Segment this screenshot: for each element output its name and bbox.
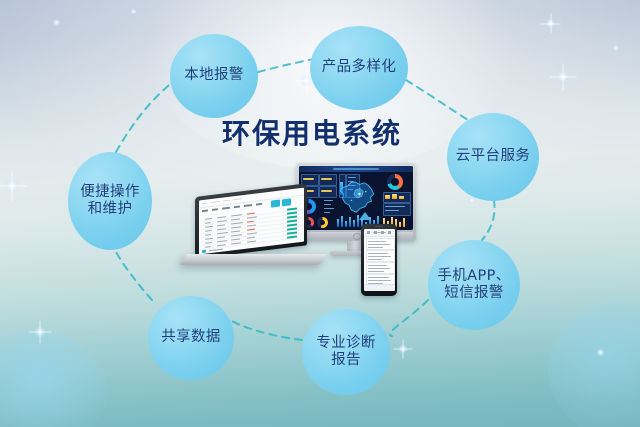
- bubble-shared-data-label: 共享数据: [157, 329, 225, 346]
- bubble-mobile-app-sms-label-line1: 手机APP、: [433, 268, 514, 285]
- dashboard-bar: [392, 194, 397, 199]
- bubble-cloud-platform[interactable]: 云平台服务: [447, 113, 539, 201]
- bubble-local-alarm[interactable]: 本地报警: [170, 34, 258, 118]
- pagination-control: [202, 250, 206, 253]
- bubble-mobile-app-sms[interactable]: 手机APP、 短信报警: [428, 240, 520, 330]
- phone-screen: [364, 229, 395, 291]
- donut-hole: [320, 220, 325, 225]
- phone-tab-icon: [367, 231, 370, 234]
- laptop-screen: [199, 188, 304, 255]
- pagination-label: [209, 249, 223, 252]
- bubble-diagnostic-report-label-line1: 专业诊断: [312, 335, 380, 352]
- phone-body: [361, 224, 397, 296]
- column-header: [256, 203, 262, 205]
- bubble-easy-ops-label-line1: 便捷操作: [76, 184, 144, 201]
- phone-item-line: [368, 277, 389, 278]
- dashboard-bar: [353, 220, 355, 227]
- dashboard-bar: [399, 196, 404, 199]
- dashboard-header: [299, 166, 413, 172]
- phone-speaker-icon: [375, 226, 383, 227]
- smartphone: [361, 224, 397, 296]
- dashboard-line: [324, 204, 331, 205]
- phone-item-line: [368, 241, 386, 242]
- china-map-graphic: [337, 178, 377, 216]
- phone-item-line: [368, 268, 390, 269]
- dashboard-line: [324, 212, 330, 213]
- phone-item-line: [368, 253, 388, 254]
- bubble-easy-ops-label-line2: 和维护: [84, 201, 137, 218]
- dashboard-line: [385, 206, 405, 207]
- donut-hole: [391, 178, 399, 186]
- phone-item-line: [368, 280, 391, 281]
- column-header: [212, 208, 218, 210]
- dashboard-bar: [349, 217, 351, 227]
- phone-item-line: [368, 265, 387, 266]
- bubble-local-alarm-label: 本地报警: [180, 67, 248, 84]
- column-header: [234, 206, 240, 208]
- dashboard-panel: [319, 174, 337, 186]
- dashboard-panel: [319, 186, 337, 198]
- poster-canvas: 环保用电系统 本地报警 产品多样化 云平台服务 手机APP、 短信报警 专业诊断…: [0, 0, 640, 427]
- phone-tab-icon: [381, 231, 384, 234]
- phone-item-line: [368, 256, 391, 257]
- phone-item-line: [368, 244, 390, 245]
- table-action-button: [282, 198, 291, 206]
- laptop-base: [179, 254, 326, 265]
- phone-item-line: [368, 247, 383, 248]
- phone-item-line: [368, 259, 382, 260]
- dashboard-metric: [303, 178, 314, 180]
- bubble-mobile-app-sms-label-line2: 短信报警: [440, 285, 508, 302]
- dashboard-bar: [357, 215, 359, 227]
- laptop: [195, 197, 320, 282]
- phone-item-line: [368, 271, 384, 272]
- laptop-lid: [195, 183, 307, 259]
- bubble-cloud-platform-label: 云平台服务: [452, 148, 535, 165]
- column-header: [244, 204, 252, 206]
- bubble-diagnostic-report[interactable]: 专业诊断 报告: [302, 309, 390, 395]
- bubble-diagnostic-report-label-line2: 报告: [327, 352, 365, 369]
- bubble-product-diversity-label: 产品多样化: [318, 59, 401, 76]
- dashboard-bar: [341, 216, 343, 227]
- bubble-product-diversity[interactable]: 产品多样化: [310, 26, 408, 110]
- dashboard-line: [324, 200, 333, 201]
- bubble-shared-data[interactable]: 共享数据: [148, 296, 234, 380]
- dashboard-line: [385, 210, 399, 211]
- dashboard-metric: [321, 190, 332, 192]
- dashboard-bar: [399, 222, 401, 227]
- monitor-logo-icon: [353, 233, 361, 240]
- phone-tab-icon: [388, 231, 391, 234]
- dashboard-line: [324, 208, 334, 209]
- column-header: [202, 209, 208, 211]
- dashboard-bar: [337, 219, 339, 227]
- phone-tab-icon: [374, 231, 377, 234]
- page-title: 环保用电系统: [222, 120, 402, 148]
- bubble-easy-ops[interactable]: 便捷操作 和维护: [68, 152, 152, 250]
- column-header: [222, 207, 230, 209]
- dashboard-bar: [345, 221, 347, 227]
- dashboard-metric: [321, 178, 332, 180]
- dashboard-bar: [403, 218, 405, 227]
- dashboard-bar: [385, 195, 390, 199]
- phone-tab-bar: [364, 284, 395, 291]
- table-action-button: [271, 200, 280, 208]
